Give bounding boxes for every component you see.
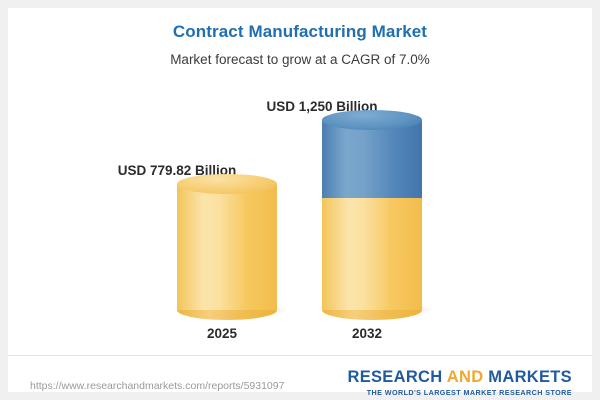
logo-tagline: THE WORLD'S LARGEST MARKET RESEARCH STOR… bbox=[347, 388, 572, 397]
cylinder-segment-base-2032 bbox=[322, 194, 422, 310]
category-label-2032: 2032 bbox=[297, 326, 437, 341]
bar-2025[interactable] bbox=[177, 184, 277, 310]
logo-text-research: RESEARCH bbox=[347, 368, 446, 386]
research-and-markets-logo[interactable]: RESEARCH AND MARKETS THE WORLD'S LARGEST… bbox=[347, 369, 572, 397]
logo-text-markets: MARKETS bbox=[483, 368, 572, 386]
cylinder-body-base-2032 bbox=[322, 194, 422, 310]
logo-text-and: AND bbox=[447, 368, 484, 386]
report-url[interactable]: https://www.researchandmarkets.com/repor… bbox=[30, 380, 284, 392]
cylinder-top-2025 bbox=[177, 174, 277, 194]
category-label-2025: 2025 bbox=[152, 326, 292, 341]
cylinder-top-2032 bbox=[322, 110, 422, 130]
cylinder-segment-growth-2032 bbox=[322, 120, 422, 198]
cylinder-segment-base-2025 bbox=[177, 184, 277, 310]
chart-plot-area: USD 779.82 Billion 2025 USD 1,250 Billio… bbox=[8, 8, 592, 356]
bar-2032[interactable] bbox=[322, 120, 422, 310]
logo-wordmark: RESEARCH AND MARKETS bbox=[347, 369, 572, 386]
cylinder-body-growth-2032 bbox=[322, 120, 422, 198]
cylinder-body-2025 bbox=[177, 184, 277, 310]
footer-divider bbox=[8, 355, 592, 356]
chart-card: Contract Manufacturing Market Market for… bbox=[8, 8, 592, 392]
